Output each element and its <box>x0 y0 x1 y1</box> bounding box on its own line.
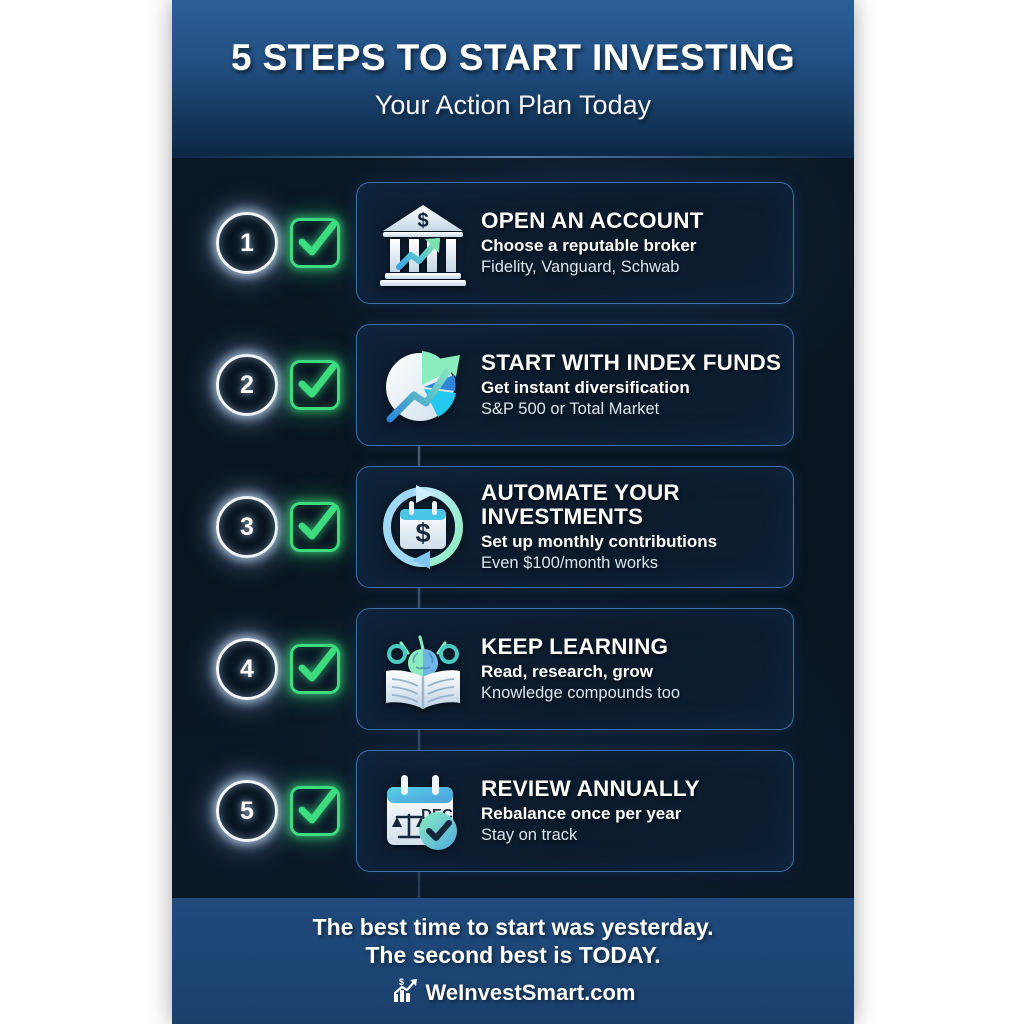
checkbox-icon[interactable] <box>290 644 340 694</box>
step-number-label: 4 <box>240 657 254 682</box>
step-card-text: START WITH INDEX FUNDS Get instant diver… <box>475 351 785 419</box>
step-number-label: 5 <box>240 799 254 824</box>
number-circle-icon: 1 <box>216 212 278 274</box>
svg-text:$: $ <box>399 977 404 987</box>
step-note: Fidelity, Vanguard, Schwab <box>481 258 785 277</box>
page-canvas: 5 STEPS TO START INVESTING Your Action P… <box>0 0 1024 1024</box>
checkbox-icon[interactable] <box>290 502 340 552</box>
step-title: AUTOMATE YOUR INVESTMENTS <box>481 481 785 529</box>
step-checkbox[interactable] <box>284 502 346 552</box>
step-card-text: KEEP LEARNING Read, research, grow Knowl… <box>475 635 785 703</box>
step-title: KEEP LEARNING <box>481 635 785 659</box>
step-number-badge: 4 <box>210 638 284 700</box>
step-number-label: 3 <box>240 515 254 540</box>
steps-section: 1 <box>172 158 854 898</box>
checkbox-icon[interactable] <box>290 218 340 268</box>
svg-text:$: $ <box>417 210 428 232</box>
step-checkbox[interactable] <box>284 786 346 836</box>
calendar-recurring-dollar-icon: $ <box>371 477 475 577</box>
footer-tagline-line1: The best time to start was yesterday. <box>313 913 714 941</box>
checkmark-icon <box>287 354 345 412</box>
checkmark-icon <box>287 212 345 270</box>
book-brain-gears-icon <box>371 619 475 719</box>
step-note: Knowledge compounds too <box>481 684 785 703</box>
step-card-text: AUTOMATE YOUR INVESTMENTS Set up monthly… <box>475 481 785 572</box>
number-circle-icon: 4 <box>216 638 278 700</box>
checkmark-icon <box>287 496 345 554</box>
step-note: Stay on track <box>481 826 785 845</box>
step-note: Even $100/month works <box>481 554 785 573</box>
calendar-scales-check-icon: DEC <box>371 761 475 861</box>
footer-tagline-line2: The second best is TODAY. <box>365 941 660 969</box>
step-title: OPEN AN ACCOUNT <box>481 209 785 233</box>
list-item[interactable]: 1 <box>172 180 854 306</box>
step-card-text: OPEN AN ACCOUNT Choose a reputable broke… <box>475 209 785 277</box>
page-title: 5 STEPS TO START INVESTING <box>231 39 795 76</box>
checkbox-icon[interactable] <box>290 360 340 410</box>
poster-header: 5 STEPS TO START INVESTING Your Action P… <box>172 0 854 158</box>
step-checkbox[interactable] <box>284 218 346 268</box>
step-note: S&P 500 or Total Market <box>481 400 785 419</box>
checkmark-icon <box>287 638 345 696</box>
step-number-badge: 3 <box>210 496 284 558</box>
list-item[interactable]: 5 <box>172 748 854 874</box>
step-card[interactable]: $ OPEN AN ACCOUNT Choose a reputable bro… <box>356 182 794 304</box>
checkbox-icon[interactable] <box>290 786 340 836</box>
page-subtitle: Your Action Plan Today <box>375 92 651 119</box>
list-item[interactable]: 2 <box>172 322 854 448</box>
list-item[interactable]: 4 <box>172 606 854 732</box>
brand-name: WeInvestSmart.com <box>426 980 636 1006</box>
step-checkbox[interactable] <box>284 644 346 694</box>
step-number-label: 1 <box>240 231 254 256</box>
step-card[interactable]: START WITH INDEX FUNDS Get instant diver… <box>356 324 794 446</box>
number-circle-icon: 3 <box>216 496 278 558</box>
step-number-badge: 1 <box>210 212 284 274</box>
step-card-text: REVIEW ANNUALLY Rebalance once per year … <box>475 777 785 845</box>
steps-list: 1 <box>172 158 854 874</box>
number-circle-icon: 2 <box>216 354 278 416</box>
step-card[interactable]: DEC REVIEW ANNUALLY <box>356 750 794 872</box>
step-card[interactable]: KEEP LEARNING Read, research, grow Knowl… <box>356 608 794 730</box>
step-subtitle: Set up monthly contributions <box>481 533 785 552</box>
step-number-badge: 2 <box>210 354 284 416</box>
step-title: REVIEW ANNUALLY <box>481 777 785 801</box>
checkmark-icon <box>287 780 345 838</box>
step-subtitle: Rebalance once per year <box>481 805 785 824</box>
infographic-poster: 5 STEPS TO START INVESTING Your Action P… <box>172 0 854 1024</box>
step-number-badge: 5 <box>210 780 284 842</box>
step-subtitle: Read, research, grow <box>481 663 785 682</box>
step-checkbox[interactable] <box>284 360 346 410</box>
number-circle-icon: 5 <box>216 780 278 842</box>
chart-growth-dollar-icon: $ <box>391 976 419 1009</box>
bank-building-icon: $ <box>371 193 475 293</box>
svg-text:$: $ <box>415 518 430 548</box>
step-subtitle: Choose a reputable broker <box>481 237 785 256</box>
poster-footer: The best time to start was yesterday. Th… <box>172 898 854 1024</box>
step-subtitle: Get instant diversification <box>481 379 785 398</box>
brand-lockup[interactable]: $ WeInvestSmart.com <box>391 976 636 1009</box>
list-item[interactable]: 3 <box>172 464 854 590</box>
pie-chart-growth-icon <box>371 335 475 435</box>
step-card[interactable]: $ AUTOMATE YOUR INVESTMENTS Set up month… <box>356 466 794 588</box>
step-title: START WITH INDEX FUNDS <box>481 351 785 375</box>
step-number-label: 2 <box>240 373 254 398</box>
